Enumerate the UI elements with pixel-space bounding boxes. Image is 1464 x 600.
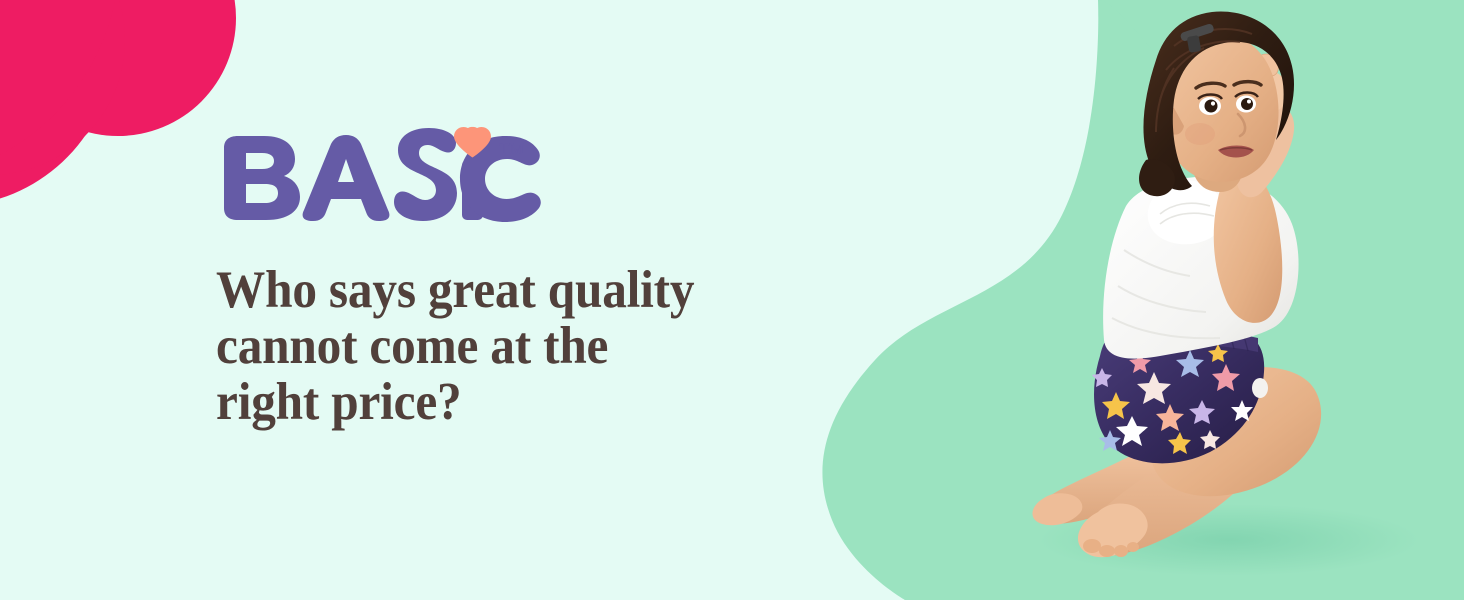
toddler-illustration [1014,0,1464,600]
banner-content: TM Who says great quality cannot come at… [216,0,856,600]
brand-logo: TM [216,126,546,226]
logo-letter-a [303,135,390,221]
cheek [1185,123,1215,145]
basic-wordmark: TM [216,126,546,226]
toddler-photo [1014,0,1464,600]
trademark-mark: TM [499,139,525,158]
promo-banner: TM Who says great quality cannot come at… [0,0,1464,600]
headline-text: Who says great quality cannot come at th… [216,262,793,430]
diaper-snap [1252,378,1268,398]
logo-letter-s [394,128,457,221]
logo-letter-b [224,136,300,220]
